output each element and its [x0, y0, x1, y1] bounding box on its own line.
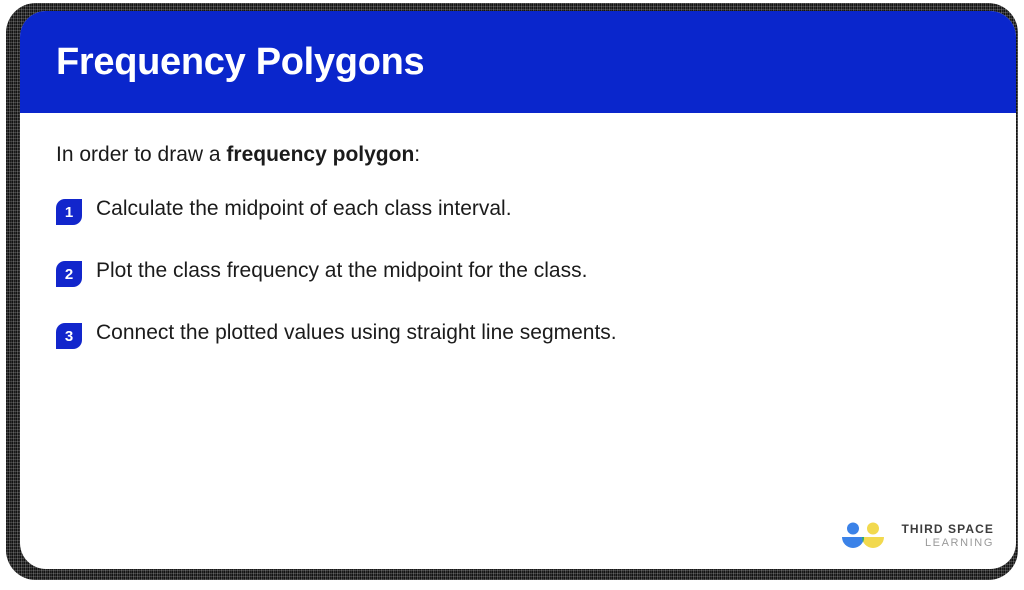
card-outer-border: Frequency Polygons In order to draw a fr…	[6, 3, 1018, 580]
card-header: Frequency Polygons	[20, 11, 1016, 113]
step-text: Plot the class frequency at the midpoint…	[96, 257, 587, 284]
step-number-badge: 1	[56, 199, 82, 225]
intro-emphasis: frequency polygon	[226, 143, 414, 166]
logo-line-1: THIRD SPACE	[901, 523, 994, 536]
list-item: 3 Connect the plotted values using strai…	[56, 319, 976, 349]
list-item: 1 Calculate the midpoint of each class i…	[56, 195, 976, 225]
step-number-badge: 3	[56, 323, 82, 349]
logo-people-icon	[839, 521, 891, 551]
logo-line-2: LEARNING	[925, 537, 994, 549]
step-text: Connect the plotted values using straigh…	[96, 319, 617, 346]
lesson-card: Frequency Polygons In order to draw a fr…	[20, 11, 1016, 569]
logo-wordmark: THIRD SPACE LEARNING	[901, 523, 994, 549]
intro-prefix: In order to draw a	[56, 143, 226, 166]
list-item: 2 Plot the class frequency at the midpoi…	[56, 257, 976, 287]
third-space-learning-logo: THIRD SPACE LEARNING	[839, 521, 994, 551]
step-text: Calculate the midpoint of each class int…	[96, 195, 512, 222]
card-body: In order to draw a frequency polygon: 1 …	[20, 113, 1016, 569]
intro-suffix: :	[414, 143, 420, 166]
step-number-badge: 2	[56, 261, 82, 287]
steps-list: 1 Calculate the midpoint of each class i…	[56, 195, 976, 349]
intro-sentence: In order to draw a frequency polygon:	[56, 141, 976, 169]
page-title: Frequency Polygons	[56, 43, 424, 81]
